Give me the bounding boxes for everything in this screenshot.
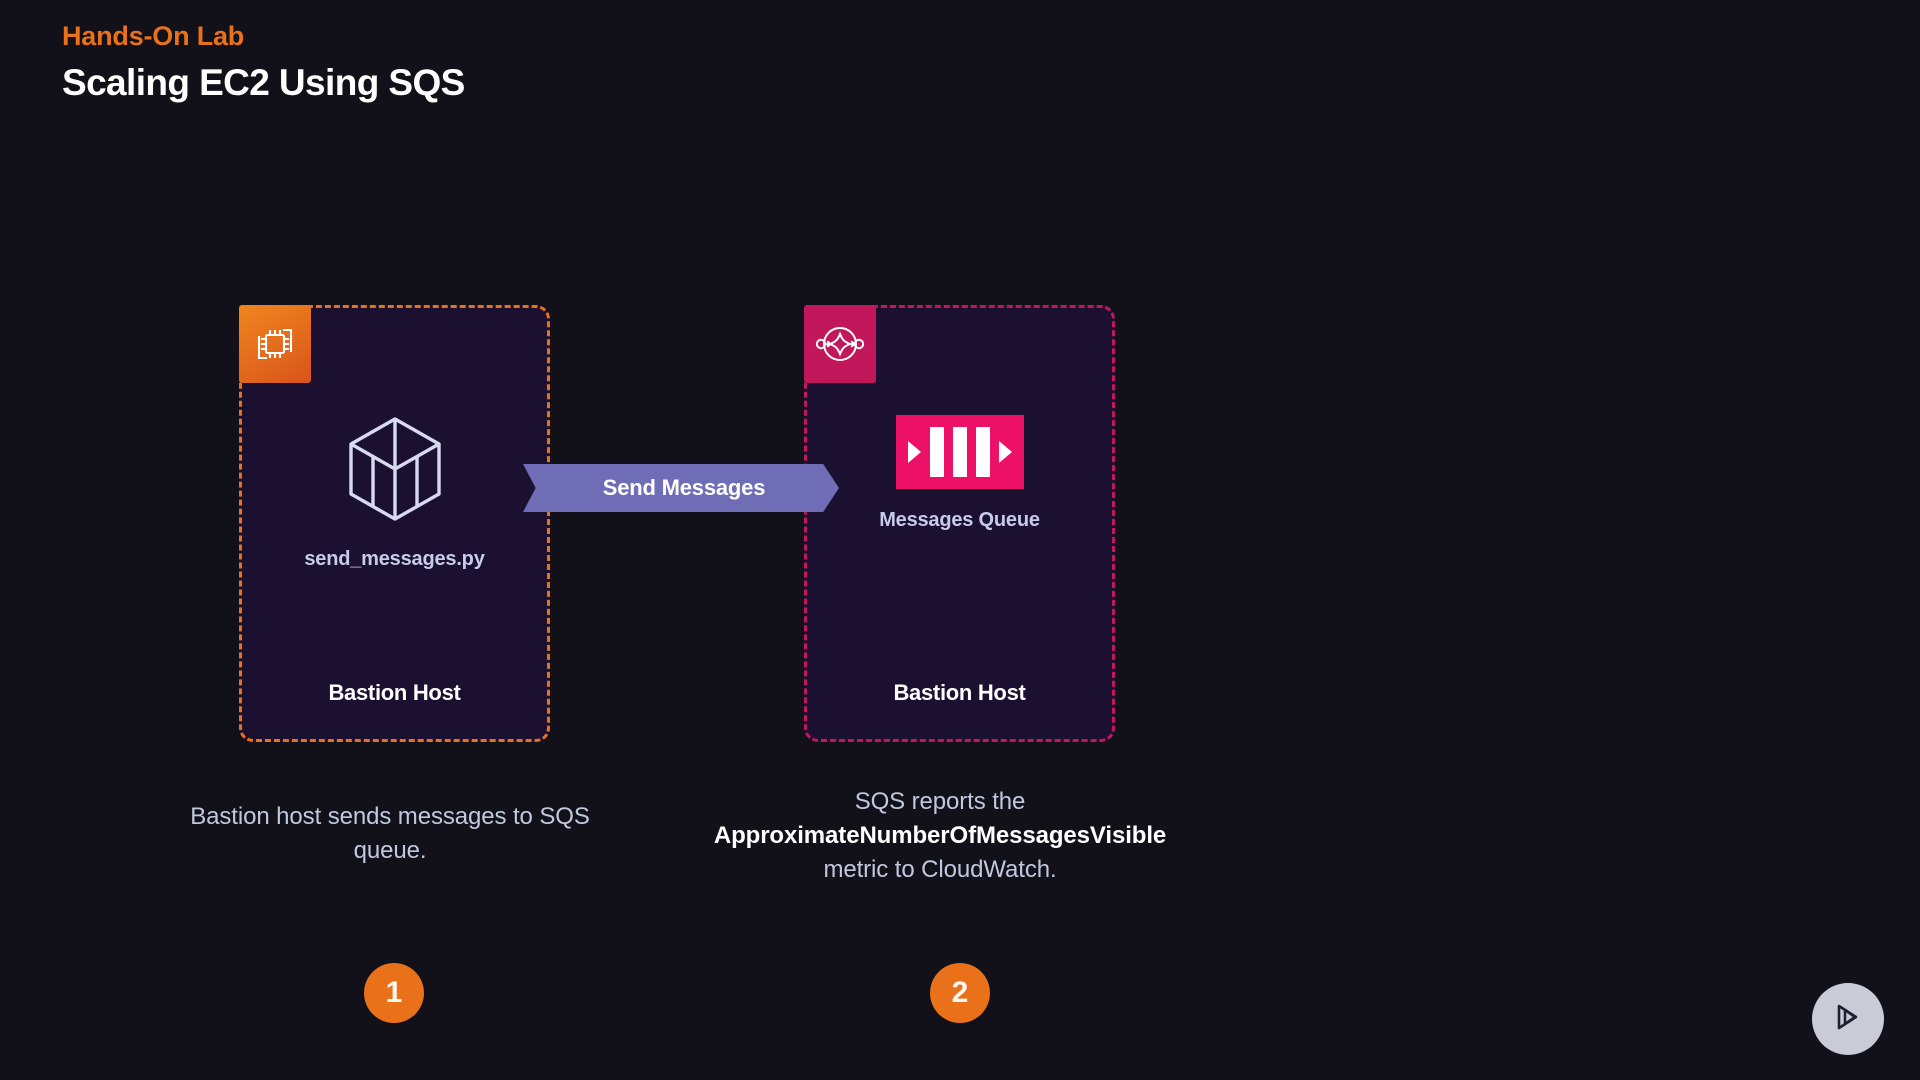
card-figure: Messages Queue (804, 415, 1115, 532)
caption-step-1: Bastion host sends messages to SQS queue… (180, 800, 600, 868)
card-figure-label: Messages Queue (879, 509, 1040, 532)
queue-icon (896, 415, 1024, 489)
caption-tail: metric to CloudWatch. (823, 856, 1056, 883)
step-number-2: 2 (930, 963, 990, 1023)
caption-text: Bastion host sends messages to SQS queue… (190, 803, 589, 864)
queue-arrow-left-icon (908, 441, 921, 463)
card-footer-label: Bastion Host (239, 680, 550, 706)
step-number-1: 1 (364, 963, 424, 1023)
caption-metric-name: ApproximateNumberOfMessagesVisible (714, 822, 1166, 849)
step-number-label: 1 (386, 976, 403, 1010)
card-figure: send_messages.py (239, 415, 550, 571)
cube-icon (346, 415, 444, 528)
next-slide-button[interactable] (1812, 983, 1884, 1055)
queue-bar (930, 427, 944, 477)
caption-lead: SQS reports the (855, 788, 1026, 815)
queue-bar (976, 427, 990, 477)
slide: Hands-On Lab Scaling EC2 Using SQS (0, 0, 1920, 1080)
fast-forward-icon (1828, 997, 1868, 1042)
diagram-card-bastion-host: send_messages.py Bastion Host (239, 305, 550, 742)
caption-step-2: SQS reports the ApproximateNumberOfMessa… (620, 785, 1260, 887)
send-messages-arrow: Send Messages (523, 464, 839, 512)
card-footer-label: Bastion Host (804, 680, 1115, 706)
diagram-stage: send_messages.py Bastion Host Send Messa… (0, 0, 1920, 1080)
diagram-card-messages-queue: Messages Queue Bastion Host (804, 305, 1115, 742)
queue-arrow-right-icon (999, 441, 1012, 463)
step-number-label: 2 (952, 976, 969, 1010)
queue-bar (953, 427, 967, 477)
sqs-icon (804, 305, 876, 383)
send-messages-label: Send Messages (603, 475, 765, 501)
card-figure-label: send_messages.py (304, 548, 484, 571)
ec2-icon (239, 305, 311, 383)
